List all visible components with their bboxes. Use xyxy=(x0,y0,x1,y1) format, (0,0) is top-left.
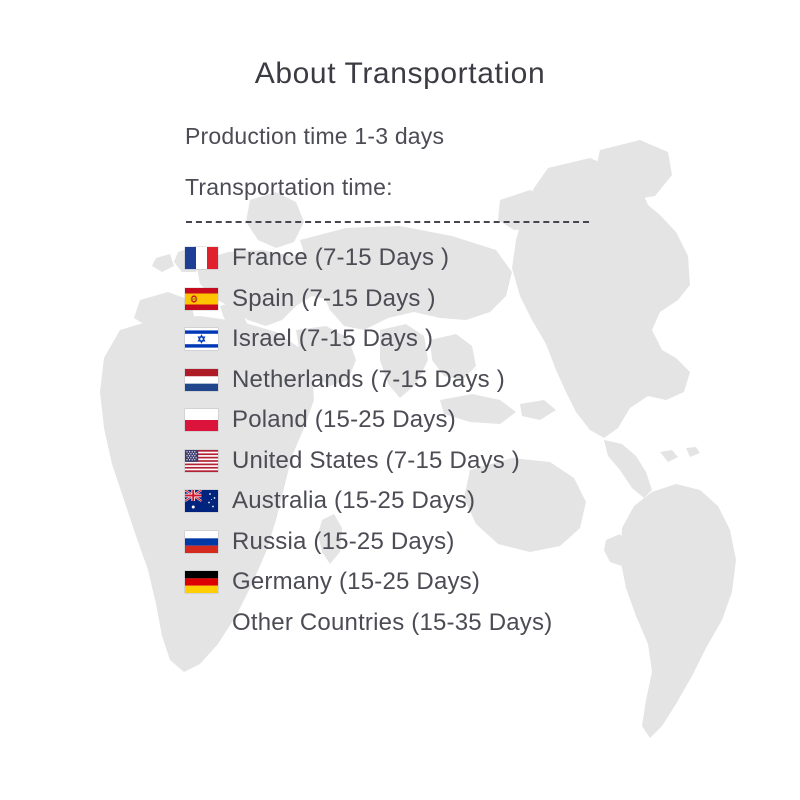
list-item-label: Germany (15-25 Days) xyxy=(232,570,480,594)
list-item-label: Russia (15-25 Days) xyxy=(232,530,455,554)
list-item-label: Spain (7-15 Days ) xyxy=(232,287,436,311)
list-item: United States (7-15 Days ) xyxy=(185,441,785,482)
list-item: Germany (15-25 Days) xyxy=(185,562,785,603)
dashed-divider xyxy=(186,221,589,223)
content-layer: About Transportation Production time 1-3… xyxy=(0,0,800,800)
list-item-label: United States (7-15 Days ) xyxy=(232,449,520,473)
transportation-time-label: Transportation time: xyxy=(185,174,393,201)
list-item-label: Other Countries (15-35 Days) xyxy=(232,611,552,635)
page-title: About Transportation xyxy=(0,57,800,91)
country-shipping-list: France (7-15 Days ) xyxy=(185,238,785,643)
list-item: Israel (7-15 Days ) xyxy=(185,319,785,360)
flag-australia-icon xyxy=(185,490,218,512)
flag-poland-icon xyxy=(185,409,218,431)
production-time-text: Production time 1-3 days xyxy=(185,123,444,150)
list-item: Netherlands (7-15 Days ) xyxy=(185,360,785,401)
list-item: Australia (15-25 Days) xyxy=(185,481,785,522)
list-item: Other Countries (15-35 Days) xyxy=(185,603,785,644)
list-item: Russia (15-25 Days) xyxy=(185,522,785,563)
list-item: France (7-15 Days ) xyxy=(185,238,785,279)
flag-russia-icon xyxy=(185,531,218,553)
flag-france-icon xyxy=(185,247,218,269)
list-item: Spain (7-15 Days ) xyxy=(185,279,785,320)
list-item-label: France (7-15 Days ) xyxy=(232,246,449,270)
list-item-label: Australia (15-25 Days) xyxy=(232,489,475,513)
transportation-info-page: About Transportation Production time 1-3… xyxy=(0,0,800,800)
flag-spain-icon xyxy=(185,288,218,310)
flag-united-states-icon xyxy=(185,450,218,472)
list-item-label: Israel (7-15 Days ) xyxy=(232,327,433,351)
list-item: Poland (15-25 Days) xyxy=(185,400,785,441)
flag-germany-icon xyxy=(185,571,218,593)
list-item-label: Poland (15-25 Days) xyxy=(232,408,456,432)
list-item-label: Netherlands (7-15 Days ) xyxy=(232,368,505,392)
flag-netherlands-icon xyxy=(185,369,218,391)
flag-israel-icon xyxy=(185,328,218,350)
